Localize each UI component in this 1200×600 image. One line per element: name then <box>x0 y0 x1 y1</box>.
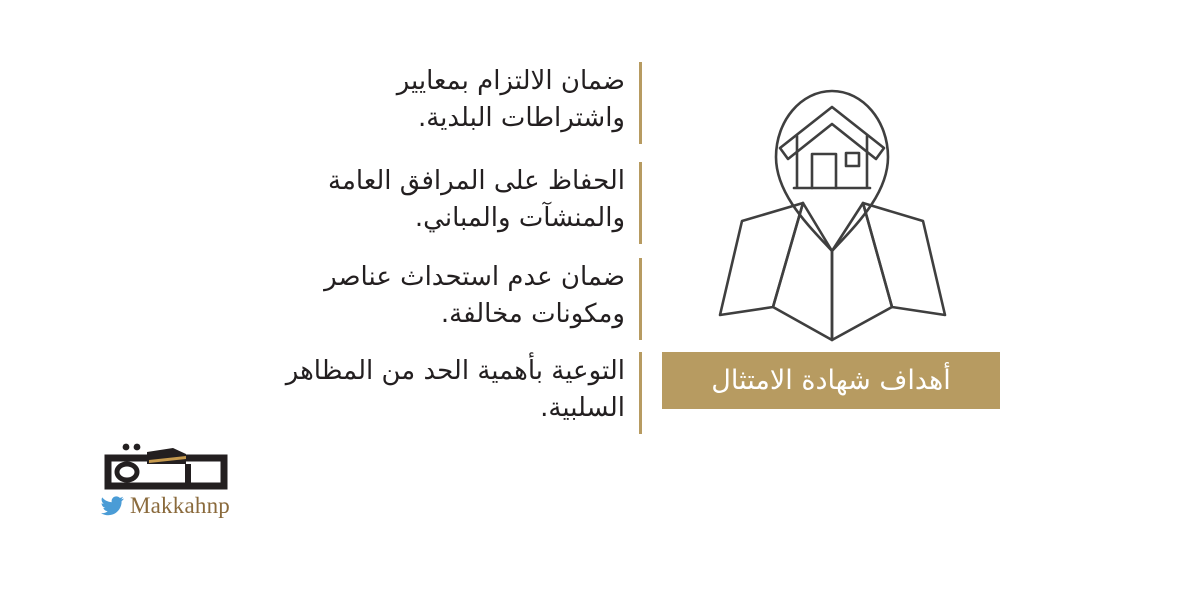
bullet-divider-rule <box>639 162 642 244</box>
page-title: أهداف شهادة الامتثال <box>711 367 951 394</box>
list-item-label: الحفاظ على المرافق العامة والمنشآت والمب… <box>270 162 625 237</box>
logo-dot <box>123 444 130 451</box>
map-fold-left-center <box>773 203 832 340</box>
list-item-label: ضمان عدم استحداث عناصر ومكونات مخالفة. <box>270 258 625 333</box>
list-item-label: ضمان الالتزام بمعايير واشتراطات البلدية. <box>270 62 625 137</box>
list-item-label: التوعية بأهمية الحد من المظاهر السلبية. <box>270 352 625 427</box>
map-fold-right <box>863 203 945 315</box>
twitter-handle[interactable]: Makkahnp <box>100 494 230 517</box>
list-item: الحفاظ على المرافق العامة والمنشآت والمب… <box>270 162 642 244</box>
list-item: ضمان عدم استحداث عناصر ومكونات مخالفة. <box>270 258 642 340</box>
map-pin-outline <box>776 91 888 251</box>
twitter-bird-icon <box>100 496 124 516</box>
bullet-divider-rule <box>639 352 642 434</box>
logo-dot <box>134 444 141 451</box>
makkah-logo: Makkahnp <box>92 440 232 525</box>
map-fold-left <box>720 203 803 315</box>
list-item: ضمان الالتزام بمعايير واشتراطات البلدية. <box>270 62 642 144</box>
section-title-banner: أهداف شهادة الامتثال <box>662 352 1000 409</box>
bullet-divider-rule <box>639 258 642 340</box>
location-pin-house-on-map-icon <box>660 55 1005 355</box>
makkah-wordmark <box>100 440 232 492</box>
bullet-divider-rule <box>639 62 642 144</box>
objectives-list: ضمان الالتزام بمعايير واشتراطات البلدية.… <box>270 62 642 442</box>
house-door <box>812 154 836 188</box>
house-roof <box>780 107 884 159</box>
makkah-arabic-logotype <box>100 440 232 492</box>
list-item: التوعية بأهمية الحد من المظاهر السلبية. <box>270 352 642 434</box>
house-window <box>846 153 859 166</box>
logo-counter <box>117 464 137 480</box>
twitter-handle-label: Makkahnp <box>130 494 230 517</box>
infographic-canvas: ضمان الالتزام بمعايير واشتراطات البلدية.… <box>0 0 1200 600</box>
